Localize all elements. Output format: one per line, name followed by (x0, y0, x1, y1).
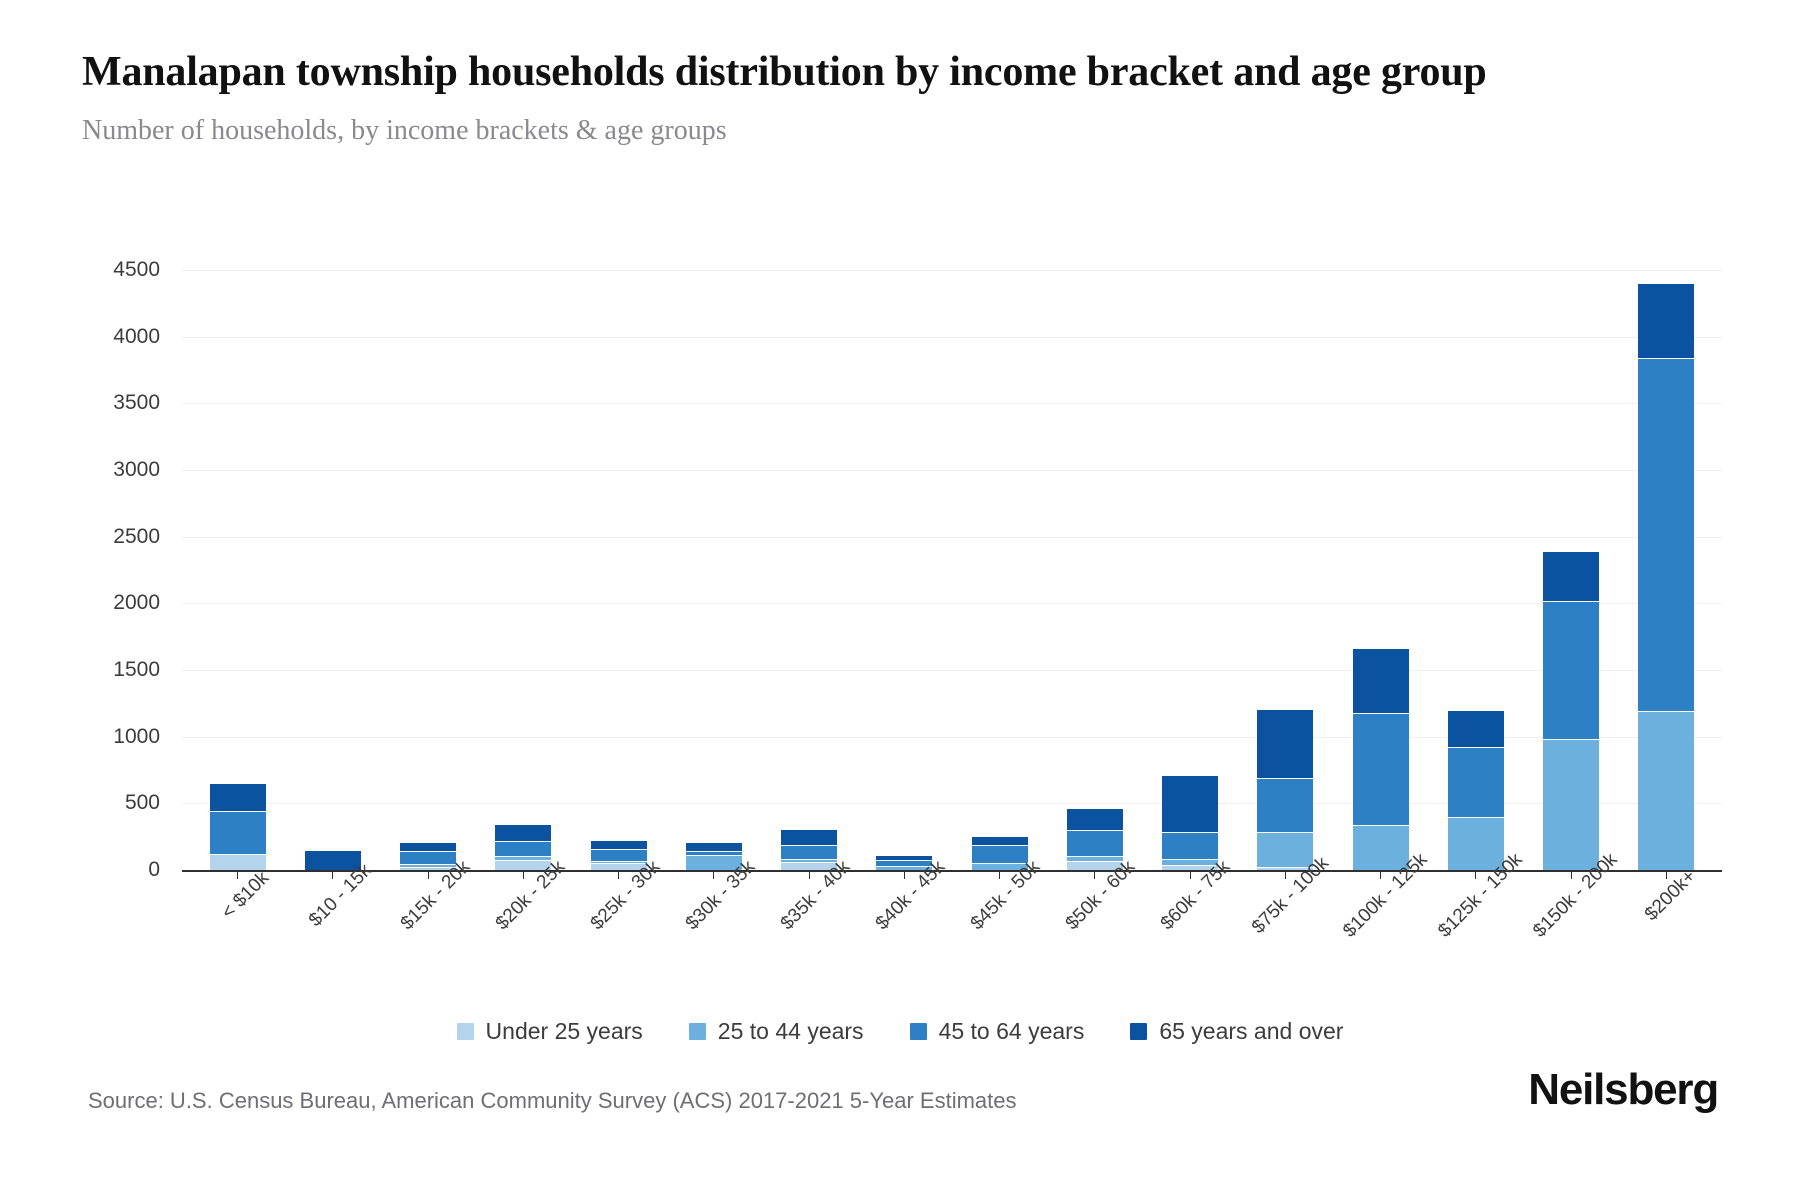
bar-segment[interactable] (972, 836, 1028, 845)
y-axis-tick-label: 4000 (113, 325, 160, 349)
bar-segment[interactable] (1257, 832, 1313, 867)
chart-page: Manalapan township households distributi… (0, 0, 1800, 1200)
bar-segment[interactable] (495, 824, 551, 841)
x-axis-label-cell: $45k - 50k (950, 882, 1045, 992)
bar-segment[interactable] (1353, 825, 1409, 870)
legend-item[interactable]: 45 to 64 years (910, 1018, 1085, 1045)
x-axis-label-cell: $15k - 20k (380, 882, 475, 992)
y-axis-tick-label: 1000 (113, 725, 160, 749)
legend-swatch-icon (457, 1023, 474, 1040)
bar-segment[interactable] (1448, 747, 1504, 816)
x-axis-label-cell: $20k - 25k (475, 882, 570, 992)
plot-area: 050010001500200025003000350040004500 (82, 270, 1722, 910)
y-axis-tick-label: 3000 (113, 458, 160, 482)
bar-column[interactable] (1524, 270, 1619, 870)
bar-segment[interactable] (400, 851, 456, 864)
stacked-bar[interactable] (400, 842, 456, 870)
x-axis-label-cell: $50k - 60k (1045, 882, 1140, 992)
bar-series-container (182, 270, 1722, 870)
stacked-bar[interactable] (1543, 551, 1599, 870)
bar-segment[interactable] (972, 845, 1028, 862)
legend-item[interactable]: 65 years and over (1130, 1018, 1343, 1045)
bar-column[interactable] (571, 270, 666, 870)
bar-segment[interactable] (1543, 739, 1599, 870)
bar-segment[interactable] (1162, 775, 1218, 832)
bar-column[interactable] (190, 270, 285, 870)
legend-item[interactable]: 25 to 44 years (689, 1018, 864, 1045)
y-axis-tick-label: 500 (125, 791, 160, 815)
y-axis-tick-label: 0 (148, 858, 160, 882)
bar-segment[interactable] (1257, 778, 1313, 832)
bar-segment[interactable] (1638, 358, 1694, 711)
y-axis-tick-label: 2500 (113, 525, 160, 549)
page-title: Manalapan township households distributi… (82, 48, 1682, 97)
stacked-bar[interactable] (1162, 775, 1218, 870)
bar-segment[interactable] (1353, 648, 1409, 713)
bar-segment[interactable] (210, 811, 266, 854)
legend-label: Under 25 years (486, 1018, 643, 1045)
x-axis-label-cell: $10 - 15k (285, 882, 380, 992)
bar-column[interactable] (476, 270, 571, 870)
stacked-bar[interactable] (781, 829, 837, 870)
stacked-bar[interactable] (210, 783, 266, 870)
bar-column[interactable] (952, 270, 1047, 870)
legend-item[interactable]: Under 25 years (457, 1018, 643, 1045)
bar-segment[interactable] (1638, 283, 1694, 358)
x-axis-label-cell: $30k - 35k (665, 882, 760, 992)
bar-segment[interactable] (1353, 713, 1409, 824)
x-axis-label-cell: $25k - 30k (570, 882, 665, 992)
x-axis-label-cell: $200k+ (1615, 882, 1710, 992)
bar-segment[interactable] (781, 845, 837, 858)
bar-segment[interactable] (400, 842, 456, 851)
bar-segment[interactable] (495, 841, 551, 856)
bar-segment[interactable] (1638, 711, 1694, 870)
stacked-bar[interactable] (591, 840, 647, 870)
x-axis-label-cell: $125k - 150k (1425, 882, 1520, 992)
stacked-bar[interactable] (1638, 283, 1694, 870)
bar-column[interactable] (1143, 270, 1238, 870)
stacked-bar[interactable] (1353, 648, 1409, 870)
source-note: Source: U.S. Census Bureau, American Com… (88, 1088, 1017, 1114)
bar-segment[interactable] (686, 842, 742, 851)
bar-column[interactable] (1047, 270, 1142, 870)
legend-label: 45 to 64 years (939, 1018, 1085, 1045)
stacked-bar[interactable] (495, 824, 551, 870)
stacked-bar[interactable] (1257, 709, 1313, 870)
bar-column[interactable] (285, 270, 380, 870)
x-axis-label-cell: $75k - 100k (1235, 882, 1330, 992)
stacked-bar[interactable] (1067, 808, 1123, 870)
bar-column[interactable] (1428, 270, 1523, 870)
bar-segment[interactable] (1162, 832, 1218, 859)
chart-header: Manalapan township households distributi… (82, 48, 1722, 147)
x-axis-label-cell: $40k - 45k (855, 882, 950, 992)
x-axis-label-cell: $100k - 125k (1330, 882, 1425, 992)
y-axis: 050010001500200025003000350040004500 (82, 270, 172, 870)
legend-swatch-icon (910, 1023, 927, 1040)
x-axis-label-cell: $35k - 40k (760, 882, 855, 992)
x-axis-label-cell: $60k - 75k (1140, 882, 1235, 992)
bar-column[interactable] (1619, 270, 1714, 870)
bar-segment[interactable] (1448, 817, 1504, 870)
y-axis-tick-label: 2000 (113, 591, 160, 615)
legend-swatch-icon (1130, 1023, 1147, 1040)
bar-column[interactable] (1238, 270, 1333, 870)
bar-column[interactable] (1333, 270, 1428, 870)
legend-swatch-icon (689, 1023, 706, 1040)
legend-label: 65 years and over (1159, 1018, 1343, 1045)
chart-legend: Under 25 years25 to 44 years45 to 64 yea… (0, 1018, 1800, 1045)
bar-segment[interactable] (1543, 551, 1599, 601)
bar-segment[interactable] (781, 829, 837, 846)
bar-segment[interactable] (591, 849, 647, 860)
bar-segment[interactable] (1257, 709, 1313, 778)
bar-column[interactable] (381, 270, 476, 870)
x-axis-label-cell: < $10k (190, 882, 285, 992)
brand-logo: Neilsberg (1528, 1065, 1718, 1115)
y-axis-tick-label: 4500 (113, 258, 160, 282)
legend-label: 25 to 44 years (718, 1018, 864, 1045)
bar-segment[interactable] (1448, 710, 1504, 747)
bar-segment[interactable] (210, 783, 266, 811)
bar-column[interactable] (857, 270, 952, 870)
bar-column[interactable] (762, 270, 857, 870)
x-axis-labels: < $10k$10 - 15k$15k - 20k$20k - 25k$25k … (182, 882, 1718, 992)
chart-subtitle: Number of households, by income brackets… (82, 115, 1722, 147)
bar-column[interactable] (666, 270, 761, 870)
bar-segment[interactable] (1543, 601, 1599, 739)
y-axis-tick-label: 3500 (113, 391, 160, 415)
stacked-bar[interactable] (1448, 710, 1504, 870)
bar-segment[interactable] (1067, 830, 1123, 856)
bar-segment[interactable] (1067, 808, 1123, 830)
bar-segment[interactable] (591, 840, 647, 849)
x-axis-label-cell: $150k - 200k (1520, 882, 1615, 992)
y-axis-tick-label: 1500 (113, 658, 160, 682)
